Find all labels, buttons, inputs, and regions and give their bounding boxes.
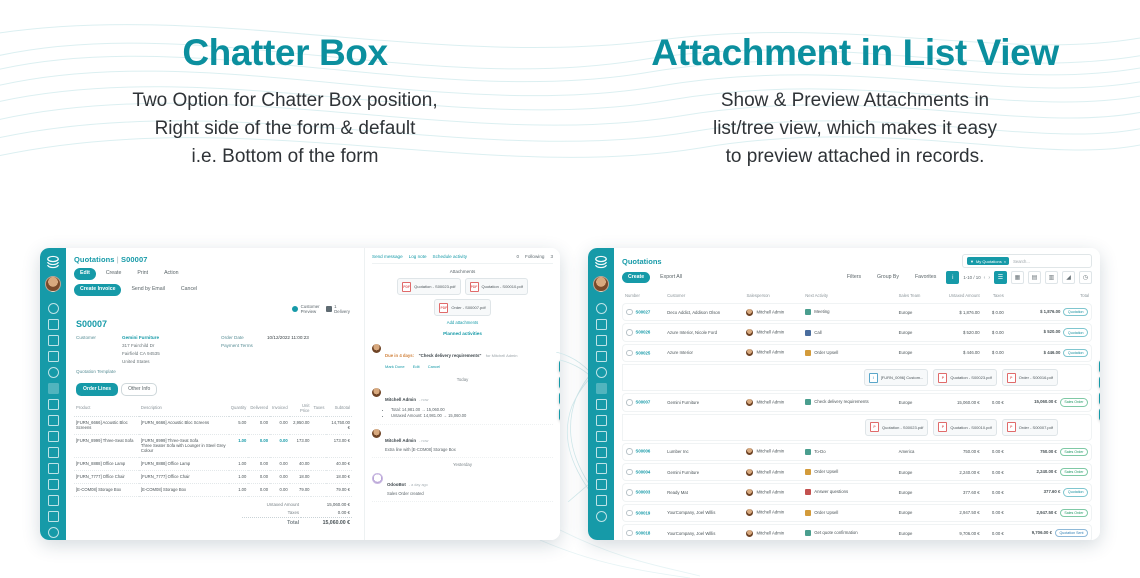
contacts-icon[interactable] (48, 351, 59, 362)
record-number-link[interactable]: S00007 (636, 399, 651, 404)
avatar[interactable] (593, 276, 609, 292)
action-button[interactable]: Action (158, 268, 184, 280)
cell-total: 2,947.50 €Sales Order (1007, 504, 1092, 522)
field-quotation-template: Quotation Template (76, 368, 207, 375)
cancel-activity-link[interactable]: Cancel (428, 364, 440, 369)
search-icon[interactable]: ⌕ (559, 376, 560, 389)
field-customer-value[interactable]: Gemini Furniture (122, 334, 159, 341)
cell-untaxed-amount: 15,060.00 € (933, 393, 983, 411)
status-badge: Sales Order (1060, 448, 1088, 456)
activity-links: Mark Done Edit Cancel (385, 364, 517, 369)
calendar-icon (805, 399, 811, 405)
day-separator: Yesterday (372, 462, 553, 467)
send-message-button[interactable]: Send message (372, 254, 403, 259)
cell-quantity: 1.00 (229, 457, 249, 470)
favorites-button[interactable]: Favorites (909, 272, 942, 284)
cell-salesperson: Mitchell Admin (743, 483, 802, 501)
cell-next-activity: Call (802, 323, 895, 341)
col-delivered[interactable]: Delivered (248, 400, 270, 417)
cell-description: [FURN_7777] Office Chair (139, 470, 229, 483)
print-button[interactable]: Print (131, 268, 154, 280)
following-label[interactable]: Following (525, 254, 544, 259)
screenshot-form-view: Quotations | S00007 Edit Create Print Ac… (40, 248, 560, 540)
attachment-chip[interactable]: PQuotation - S00023.pdf (865, 419, 928, 436)
pdf-icon: P (938, 422, 947, 432)
list-view-icon[interactable]: ☰ (994, 271, 1007, 284)
attachment-chip[interactable]: PDFQuotation - S00010.pdf (465, 278, 528, 295)
attachment-chips: PDFQuotation - S00023.pdfPDFQuotation - … (372, 278, 553, 316)
status-badge: Quotation (1063, 328, 1088, 336)
manufacturing-icon[interactable] (596, 431, 607, 442)
cell-total: 2,240.00 €Sales Order (1007, 463, 1092, 481)
chatter-message: Mitchell Admin- nowTotal: 14,981.00 → 15… (372, 384, 553, 425)
tab-order-lines[interactable]: Order Lines (76, 383, 118, 396)
record-title: S00007 (76, 319, 352, 329)
day-separator: Today (372, 377, 553, 382)
cell-subtotal: 40.00 € (326, 457, 352, 470)
cell-number[interactable]: S00027 (622, 303, 664, 321)
cell-next-activity: Get quote confirmation (802, 524, 895, 540)
message-time: - now (419, 398, 428, 402)
purchase-icon[interactable] (596, 447, 607, 458)
cell-subtotal: 18.00 € (326, 470, 352, 483)
followers-count[interactable]: 0 (516, 254, 519, 259)
customer-preview-label: Customer Preview (301, 304, 320, 315)
activity-summary: "Check delivery requirements" (419, 353, 482, 358)
record-number-link[interactable]: S00018 (636, 530, 651, 535)
avatar (746, 349, 753, 356)
filter-icon: ▼ (970, 259, 974, 264)
cell-sales-team: Europe (896, 323, 933, 341)
row-checkbox[interactable] (626, 350, 633, 357)
headline-left-title: Chatter Box (0, 34, 570, 71)
cell-salesperson: Mitchell Admin (743, 344, 802, 362)
attachment-name: Order - S00007.pdf (1019, 425, 1053, 430)
close-icon[interactable]: × (1004, 259, 1006, 264)
cell-number[interactable]: S00007 (622, 393, 664, 411)
row-checkbox[interactable] (626, 399, 633, 406)
create-invoice-button[interactable]: Create Invoice (74, 284, 121, 296)
attachment-chip[interactable]: POrder - S00016.pdf (1002, 369, 1058, 386)
attachments-title: Attachments (372, 269, 553, 274)
cell-taxes: $ 0.00 (983, 303, 1007, 321)
tab-other-info[interactable]: Other Info (121, 383, 157, 396)
table-row[interactable]: [FURN_8999] Three-Seat Sofa[FURN_8999] T… (74, 434, 352, 457)
headline-right: Attachment in List View Show & Preview A… (570, 34, 1140, 171)
cell-number[interactable]: S00025 (622, 344, 664, 362)
screenshot-list-view: Quotations ▼ My Quotations × Search... C… (588, 248, 1100, 540)
attachment-row: I[FURN_0096] Custom...PQuotation - S0002… (622, 364, 1092, 391)
col-quantity[interactable]: Quantity (229, 400, 249, 417)
calendar-view-icon[interactable]: ▤ (1028, 271, 1041, 284)
cell-number[interactable]: S00019 (622, 504, 664, 522)
cell-taxes: 0.00 € (983, 443, 1007, 461)
log-note-button[interactable]: Log note (409, 254, 427, 259)
contacts-icon[interactable] (596, 351, 607, 362)
apps-icon[interactable] (596, 495, 607, 506)
cell-customer: Deco Addict, Addison Olson (664, 303, 743, 321)
cell-description: [FURN_8999] Three-Seat SofaThree Seater … (139, 434, 229, 457)
chart-icon (805, 469, 811, 475)
table-row[interactable]: [FURN_6666] Acoustic Bloc Screens[FURN_6… (74, 416, 352, 434)
inventory-icon[interactable] (48, 415, 59, 426)
mark-done-link[interactable]: Mark Done (385, 364, 405, 369)
form-fields: Customer Gemini Furniture 317 Fairchild … (74, 334, 352, 377)
cell-next-activity: To-Do (802, 443, 895, 461)
star-icon[interactable]: ★ (1099, 360, 1100, 373)
field-customer: Customer Gemini Furniture (76, 334, 207, 341)
project-icon[interactable] (48, 463, 59, 474)
field-payment-terms: Payment Terms (221, 342, 352, 349)
total-untaxed-label: Untaxed Amount (242, 501, 301, 509)
invoicing-icon[interactable] (596, 399, 607, 410)
edit-activity-link[interactable]: Edit (413, 364, 420, 369)
row-checkbox[interactable] (626, 530, 633, 537)
cell-subtotal: 14,750.00 € (326, 416, 352, 434)
message-time: - a day ago (409, 483, 428, 487)
grid-icon[interactable]: ▦ (559, 408, 560, 421)
cell-customer: Gemini Furniture (664, 463, 743, 481)
recruitment-icon[interactable] (48, 495, 59, 506)
table-row[interactable]: S00025Azure InteriorMitchell AdminOrder … (622, 344, 1092, 362)
cell-customer: YourCompany, Joel Willis (664, 524, 743, 540)
field-order-date: Order Date 10/12/2022 11:00:23 (221, 334, 352, 341)
website-icon[interactable] (596, 367, 607, 378)
cancel-button[interactable]: Cancel (175, 284, 203, 296)
star-icon[interactable]: ★ (559, 360, 560, 373)
chatter-message-list: TodayMitchell Admin- nowTotal: 14,981.00… (372, 377, 553, 502)
grand-total-label: Total (242, 517, 301, 528)
table-row[interactable]: S00019YourCompany, Joel WillisMitchell A… (622, 504, 1092, 522)
pdf-icon: P (1007, 422, 1016, 432)
table-row[interactable]: S00003Ready MatMitchell AdminAnswer ques… (622, 483, 1092, 501)
search-icon[interactable]: ⌕ (1099, 376, 1100, 389)
table-row[interactable]: S00027Deco Addict, Addison OlsonMitchell… (622, 303, 1092, 321)
inventory-icon[interactable] (596, 415, 607, 426)
phone-icon (805, 330, 811, 336)
cell-taxes: 0.00 € (983, 483, 1007, 501)
cell-delivered: 0.00 (248, 457, 270, 470)
delivery-label: 1 Delivery (334, 304, 350, 315)
crm-icon[interactable] (48, 319, 59, 330)
group-by-button[interactable]: Group By (871, 272, 905, 284)
cell-taxes: 0.00 € (983, 504, 1007, 522)
pdf-icon: PDF (439, 303, 448, 313)
invoicing-icon[interactable] (48, 399, 59, 410)
cell-next-activity: Answer questions (802, 483, 895, 501)
col-product[interactable]: Product (74, 400, 139, 417)
manufacturing-icon[interactable] (48, 431, 59, 442)
attachment-chip[interactable]: POrder - S00007.pdf (1002, 419, 1058, 436)
app-sidebar-right[interactable] (588, 248, 614, 540)
cell-unit-price: 18.00 (290, 470, 312, 483)
status-badge: Quotation (1063, 308, 1088, 316)
row-checkbox[interactable] (626, 329, 633, 336)
cell-total: $ 520.00Quotation (1007, 323, 1092, 341)
row-checkbox[interactable] (626, 309, 633, 316)
breadcrumb-root[interactable]: Quotations (74, 255, 115, 264)
employees-icon[interactable] (48, 479, 59, 490)
breadcrumb-record: S00007 (121, 255, 147, 264)
col-subtotal[interactable]: Subtotal (326, 400, 352, 417)
table-row[interactable]: S00018YourCompany, Joel WillisMitchell A… (622, 524, 1092, 540)
pdf-icon: PDF (402, 282, 411, 292)
col-total[interactable]: Total (1007, 290, 1092, 301)
calendar-icon[interactable] (48, 335, 59, 346)
col-customer[interactable]: Customer (664, 290, 743, 301)
list-header: Quotations ▼ My Quotations × Search... (614, 248, 1100, 271)
avatar[interactable] (45, 276, 61, 292)
cell-taxes (311, 457, 326, 470)
pager[interactable]: 1-10 / 10 ‹ › (963, 275, 990, 281)
total-grand-row: Total 15,060.00 € (242, 517, 352, 528)
add-attachments-link[interactable]: Add attachments (372, 320, 553, 325)
cell-subtotal: 173.00 € (326, 434, 352, 457)
chart-icon (805, 350, 811, 356)
order-lines-header: Product Description Quantity Delivered I… (74, 400, 352, 417)
cell-sales-team: Europe (896, 504, 933, 522)
cell-sales-team: Europe (896, 393, 933, 411)
field-order-date-value[interactable]: 10/12/2022 11:00:23 (267, 334, 309, 341)
cell-taxes: 0.00 € (983, 524, 1007, 540)
cell-product: [FURN_8888] Office Lamp (74, 457, 139, 470)
chevron-right-icon[interactable]: › (988, 275, 990, 281)
table-row[interactable]: S00007Gemini FurnitureMitchell AdminChec… (622, 393, 1092, 411)
attachment-cell: PQuotation - S00023.pdfPQuotation - S000… (622, 414, 1092, 441)
cell-next-activity: Order Upsell (802, 344, 895, 362)
col-untaxed-amount[interactable]: Untaxed Amount (933, 290, 983, 301)
breadcrumb[interactable]: Quotations (622, 257, 662, 266)
chevron-left-icon[interactable]: ‹ (984, 275, 986, 281)
cell-number[interactable]: S00006 (622, 443, 664, 461)
col-invoiced[interactable]: Invoiced (270, 400, 290, 417)
cell-customer: Azure Interior, Nicole Ford (664, 323, 743, 341)
search-facet-my-quotations[interactable]: ▼ My Quotations × (967, 257, 1009, 265)
col-unit-price[interactable]: Unit Price (290, 400, 312, 417)
address-line-1: 317 Fairchild Dr (122, 342, 154, 349)
cell-next-activity: Order Upsell (802, 504, 895, 522)
cell-untaxed-amount: 2,947.50 € (933, 504, 983, 522)
attachment-name: Order - S00016.pdf (1019, 375, 1053, 380)
grand-total-value: 15,060.00 € (301, 517, 352, 528)
total-taxes-row: Taxes 0.00 € (242, 509, 352, 518)
record-number-link[interactable]: S00019 (636, 510, 651, 515)
field-quotation-template-label: Quotation Template (76, 368, 116, 375)
apps-icon[interactable] (48, 511, 59, 522)
calendar-icon (805, 449, 811, 455)
cell-taxes: 0.00 € (983, 463, 1007, 481)
attachment-name: Order - S00007.pdf (451, 305, 485, 310)
record-number-link[interactable]: S00006 (636, 449, 651, 454)
cell-total: $ 446.00Quotation (1007, 344, 1092, 362)
attachment-chip[interactable]: PQuotation - S00010.pdf (933, 419, 996, 436)
delivery-button[interactable]: 1 Delivery (326, 304, 350, 315)
avatar (746, 448, 753, 455)
crm-icon[interactable] (596, 319, 607, 330)
calendar-icon (805, 309, 811, 315)
row-checkbox[interactable] (626, 510, 633, 517)
chatter-panel: Send message Log note Schedule activity … (364, 248, 560, 540)
cell-delivered: 0.00 (248, 470, 270, 483)
headline-section: Chatter Box Two Option for Chatter Box p… (0, 34, 1140, 171)
app-sidebar-left[interactable] (40, 248, 66, 540)
record-number-link[interactable]: S00003 (636, 490, 651, 495)
cell-taxes: 0.00 € (983, 393, 1007, 411)
planned-activities-title[interactable]: Planned activities (372, 331, 553, 336)
row-checkbox[interactable] (626, 448, 633, 455)
follower-number[interactable]: 3 (550, 254, 553, 259)
record-number-link[interactable]: S00026 (636, 330, 651, 335)
cell-description: [E-COM08] Storage Box (139, 483, 229, 496)
project-icon[interactable] (596, 463, 607, 474)
attachment-name: Quotation - S00010.pdf (950, 425, 991, 430)
website-icon[interactable] (48, 367, 59, 378)
edit-button[interactable]: Edit (74, 268, 96, 280)
pdf-icon: P (870, 422, 879, 432)
create-button[interactable]: Create (622, 272, 650, 284)
cell-number[interactable]: S00018 (622, 524, 664, 540)
cell-delivered: 0.00 (248, 434, 270, 457)
odoo-logo-icon (592, 253, 610, 271)
image-icon: I (869, 373, 878, 383)
filters-button[interactable]: Filters (841, 272, 867, 284)
status-badge: Quotation (1063, 488, 1088, 496)
customer-preview-button[interactable]: Customer Preview (292, 304, 320, 315)
attachment-chip[interactable]: PDFQuotation - S00023.pdf (397, 278, 460, 295)
cell-sales-team: America (896, 443, 933, 461)
avatar (746, 530, 753, 537)
graph-view-icon[interactable]: ◢ (1062, 271, 1075, 284)
row-checkbox[interactable] (626, 469, 633, 476)
kanban-view-icon[interactable]: ▦ (1011, 271, 1024, 284)
facet-label: My Quotations (976, 259, 1002, 264)
purchase-icon[interactable] (48, 447, 59, 458)
create-button[interactable]: Create (100, 268, 128, 280)
attachment-name: [FURN_0096] Custom... (881, 375, 924, 380)
cell-number[interactable]: S00003 (622, 483, 664, 501)
cell-salesperson: Mitchell Admin (743, 303, 802, 321)
message-author: OdooBot (387, 482, 406, 487)
table-row[interactable]: [FURN_7777] Office Chair[FURN_7777] Offi… (74, 470, 352, 483)
info-icon[interactable]: i (946, 271, 959, 284)
sales-icon[interactable] (48, 383, 59, 394)
quotations-table-body: S00027Deco Addict, Addison OlsonMitchell… (622, 303, 1092, 540)
cell-taxes: $ 0.00 (983, 344, 1007, 362)
form-sheet: Customer Preview 1 Delivery S00007 Custo… (66, 300, 360, 528)
status-badge: Quotation Sent (1055, 529, 1088, 537)
total-taxes-value: 0.00 € (301, 509, 352, 518)
avatar (746, 509, 753, 516)
total-untaxed-row: Untaxed Amount 15,060.00 € (242, 501, 352, 509)
cell-salesperson: Mitchell Admin (743, 524, 802, 540)
col-description[interactable]: Description (139, 400, 229, 417)
cell-untaxed-amount: 750.00 € (933, 443, 983, 461)
cell-total: 9,706.00 €Quotation Sent (1007, 524, 1092, 540)
cell-sales-team: Europe (896, 524, 933, 540)
messaging-icon[interactable] (48, 303, 59, 314)
attachment-chip[interactable]: I[FURN_0096] Custom... (864, 369, 929, 386)
attachment-name: Quotation - S00010.pdf (482, 284, 523, 289)
attachment-name: Quotation - S00023.pdf (950, 375, 991, 380)
col-salesperson[interactable]: Salesperson (743, 290, 802, 301)
field-address-3: United States (76, 358, 207, 365)
search-bar[interactable]: ▼ My Quotations × Search... (962, 254, 1092, 268)
attachment-name: Quotation - S00023.pdf (882, 425, 923, 430)
cell-product: [FURN_7777] Office Chair (74, 470, 139, 483)
truck-icon (326, 306, 332, 312)
calendar-icon[interactable] (596, 335, 607, 346)
messaging-icon[interactable] (596, 303, 607, 314)
cell-unit-price: 79.00 (290, 483, 312, 496)
cell-number[interactable]: S00004 (622, 463, 664, 481)
cell-product: [E-COM08] Storage Box (74, 483, 139, 496)
attachment-chip[interactable]: PQuotation - S00023.pdf (933, 369, 996, 386)
cell-untaxed-amount: 377.60 € (933, 483, 983, 501)
col-next-activity[interactable]: Next Activity (802, 290, 895, 301)
list-view-body: Quotations ▼ My Quotations × Search... C… (614, 248, 1100, 540)
message-body: Total: 14,981.00 → 15,060.00Untaxed Amou… (385, 407, 466, 419)
col-number[interactable]: Number (622, 290, 664, 301)
pivot-view-icon[interactable]: ▥ (1045, 271, 1058, 284)
status-badge: Sales Order (1060, 509, 1088, 517)
activity-view-icon[interactable]: ◷ (1079, 271, 1092, 284)
schedule-activity-button[interactable]: Schedule activity (433, 254, 467, 259)
col-sales-team[interactable]: Sales Team (896, 290, 933, 301)
floating-tool-buttons: ★ ⌕ ⤢ ▦ (1099, 360, 1100, 421)
message-time: - now (419, 439, 428, 443)
chatter-header: Send message Log note Schedule activity … (372, 254, 553, 264)
table-row[interactable]: S00006Lumber IncMitchell AdminTo-DoAmeri… (622, 443, 1092, 461)
attachment-chip[interactable]: PDFOrder - S00007.pdf (434, 299, 490, 316)
breadcrumb-separator: | (117, 255, 119, 264)
row-checkbox[interactable] (626, 489, 633, 496)
cell-untaxed-amount: 9,706.00 € (933, 524, 983, 540)
record-number-link[interactable]: S00027 (636, 309, 651, 314)
cell-unit-price: 40.00 (290, 457, 312, 470)
sales-icon[interactable] (596, 383, 607, 394)
table-row[interactable]: S00004Gemini FurnitureMitchell AdminOrde… (622, 463, 1092, 481)
table-row[interactable]: S00026Azure Interior, Nicole FordMitchel… (622, 323, 1092, 341)
table-row[interactable]: [E-COM08] Storage Box[E-COM08] Storage B… (74, 483, 352, 496)
col-taxes[interactable]: Taxes (983, 290, 1007, 301)
settings-icon[interactable] (48, 527, 59, 538)
record-number-link[interactable]: S00004 (636, 469, 651, 474)
cell-number[interactable]: S00026 (622, 323, 664, 341)
avatar (372, 388, 381, 397)
order-lines-body: [FURN_6666] Acoustic Bloc Screens[FURN_6… (74, 416, 352, 496)
employees-icon[interactable] (596, 479, 607, 490)
order-lines-table: Product Description Quantity Delivered I… (74, 400, 352, 497)
quotations-table: Number Customer Salesperson Next Activit… (614, 288, 1100, 540)
expand-icon[interactable]: ⤢ (1099, 392, 1100, 405)
cell-taxes (311, 416, 326, 434)
grid-icon[interactable]: ▦ (1099, 408, 1100, 421)
send-by-email-button[interactable]: Send by Email (125, 284, 170, 296)
settings-icon[interactable] (596, 511, 607, 522)
expand-icon[interactable]: ⤢ (559, 392, 560, 405)
col-taxes[interactable]: Taxes (311, 400, 326, 417)
table-row[interactable]: [FURN_8888] Office Lamp[FURN_8888] Offic… (74, 457, 352, 470)
order-totals: Untaxed Amount 15,060.00 € Taxes 0.00 € … (74, 501, 352, 528)
search-input[interactable]: Search... (1013, 259, 1030, 264)
chatter-message: Mitchell Admin- nowExtra line with [E-CO… (372, 425, 553, 458)
field-payment-terms-label: Payment Terms (221, 342, 267, 349)
cell-quantity: 1.00 (229, 483, 249, 496)
export-all-button[interactable]: Export All (654, 272, 688, 284)
cell-sales-team: Europe (896, 483, 933, 501)
avatar (746, 309, 753, 316)
record-number-link[interactable]: S00025 (636, 350, 651, 355)
